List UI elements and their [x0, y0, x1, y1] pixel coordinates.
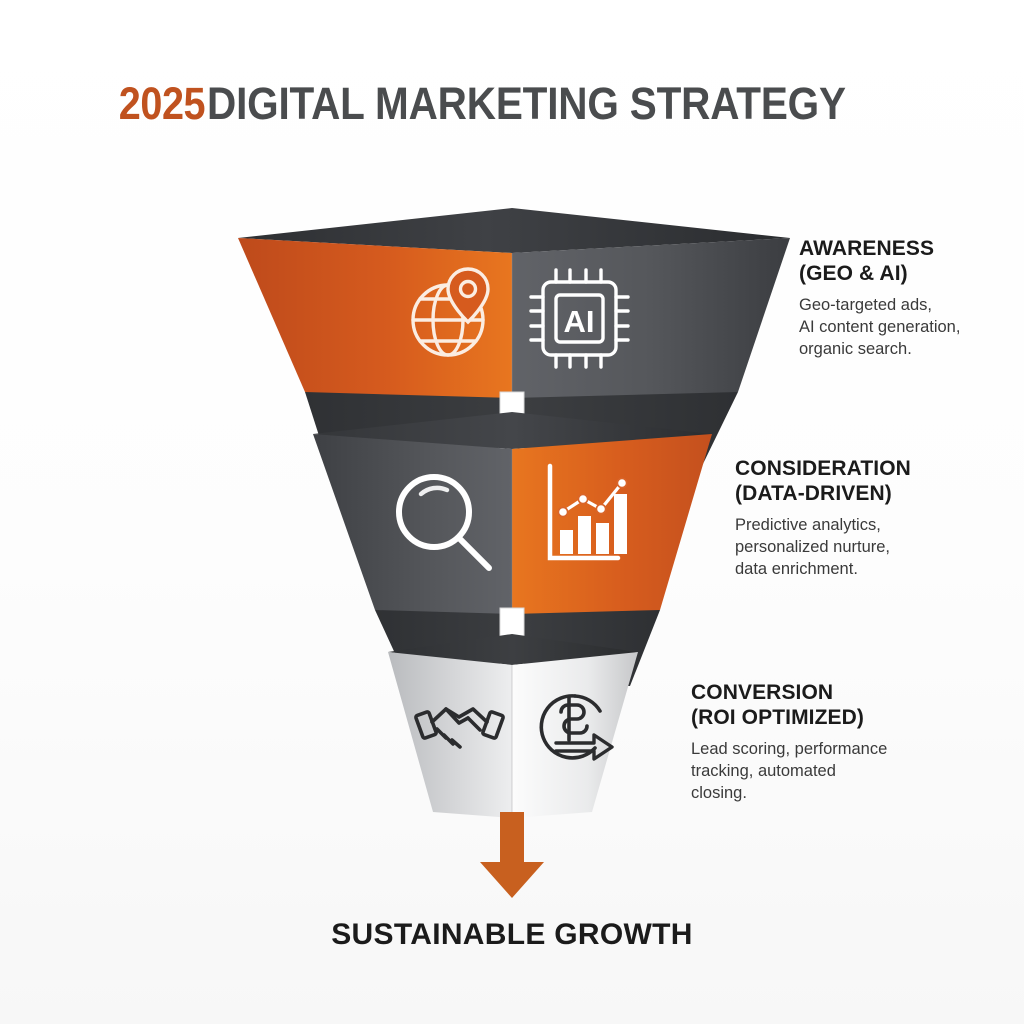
desc-line: Geo-targeted ads, [799, 294, 960, 316]
stage2-left-panel [313, 434, 512, 614]
desc-line: AI content generation, [799, 316, 960, 338]
stage-title-awareness: AWARENESS [799, 236, 960, 261]
infographic-canvas: 2025DIGITAL MARKETING STRATEGY [0, 0, 1024, 1024]
stage-description-conversion: Lead scoring, performance tracking, auto… [691, 738, 887, 804]
stage3-left-panel [388, 652, 512, 818]
stage-title-conversion: CONVERSION [691, 680, 887, 705]
desc-line: data enrichment. [735, 558, 911, 580]
desc-line: organic search. [799, 338, 960, 360]
stage-description-consideration: Predictive analytics, personalized nurtu… [735, 514, 911, 580]
desc-line: closing. [691, 782, 887, 804]
funnel-stage-conversion[interactable] [388, 634, 638, 818]
outcome-label: SUSTAINABLE GROWTH [0, 918, 1024, 952]
stage-description-awareness: Geo-targeted ads, AI content generation,… [799, 294, 960, 360]
outflow-arrow [480, 812, 544, 898]
stage-subtitle-conversion: (ROI OPTIMIZED) [691, 705, 887, 730]
stage-label-conversion: CONVERSION (ROI OPTIMIZED) Lead scoring,… [691, 680, 887, 804]
stage3-right-panel [512, 652, 638, 818]
stage2-right-panel [512, 434, 712, 614]
stage1-right-panel [512, 238, 790, 398]
stage-label-awareness: AWARENESS (GEO & AI) Geo-targeted ads, A… [799, 236, 960, 360]
desc-line: tracking, automated [691, 760, 887, 782]
stage-label-consideration: CONSIDERATION (DATA-DRIVEN) Predictive a… [735, 456, 911, 580]
desc-line: personalized nurture, [735, 536, 911, 558]
desc-line: Lead scoring, performance [691, 738, 887, 760]
stage-subtitle-consideration: (DATA-DRIVEN) [735, 481, 911, 506]
svg-text:AI: AI [564, 304, 595, 339]
stage-title-consideration: CONSIDERATION [735, 456, 911, 481]
desc-line: Predictive analytics, [735, 514, 911, 536]
stage-subtitle-awareness: (GEO & AI) [799, 261, 960, 286]
